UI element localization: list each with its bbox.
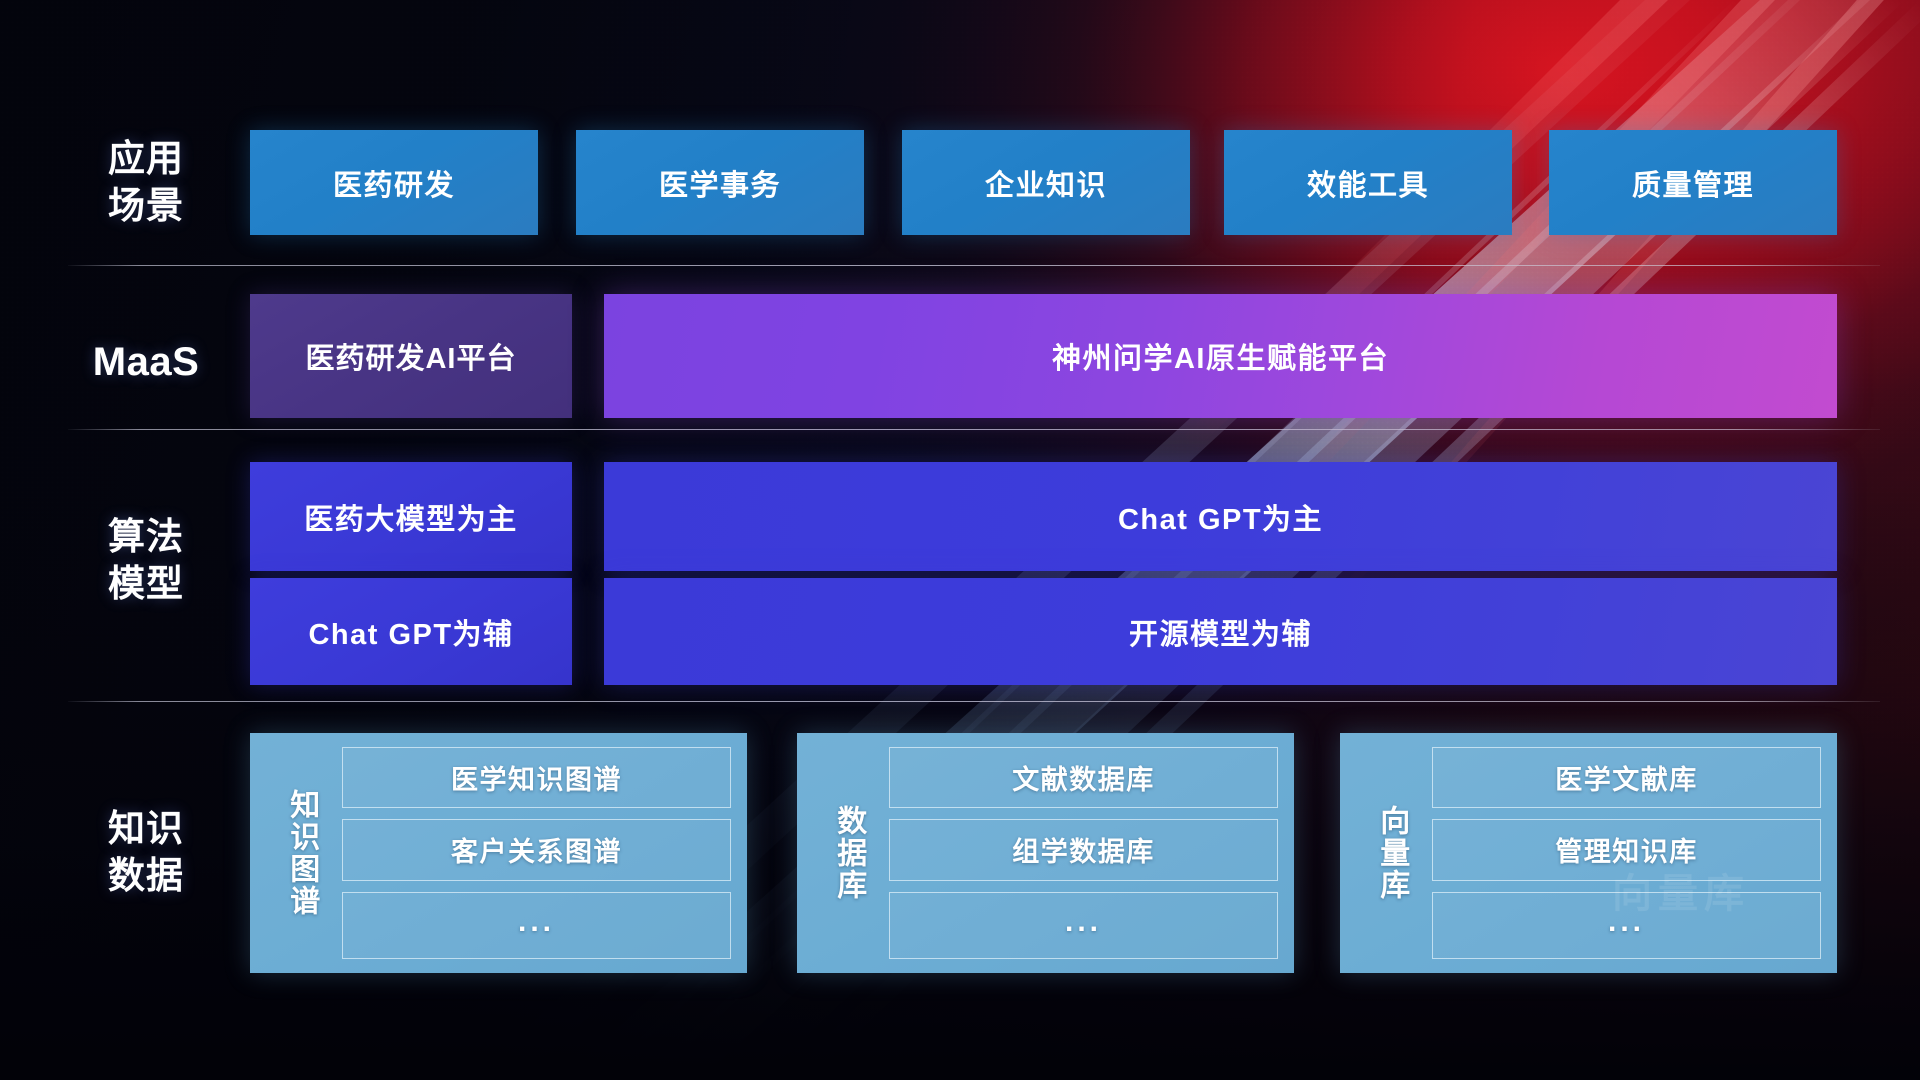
app-tile-efficiency-tools[interactable]: 效能工具 — [1224, 130, 1512, 235]
knowledge-group-knowledge-graph[interactable]: 知识图谱 医学知识图谱 客户关系图谱 ... — [250, 733, 747, 973]
knowledge-item-more[interactable]: ... — [1432, 892, 1821, 959]
row-label-algorithm-models: 算法 模型 — [62, 513, 230, 608]
row-label-line-2: 场景 — [62, 182, 230, 229]
knowledge-item[interactable]: 管理知识库 — [1432, 819, 1821, 880]
app-tile-quality-management[interactable]: 质量管理 — [1549, 130, 1837, 235]
knowledge-group-label: 数据库 — [807, 747, 889, 959]
app-tile-label: 质量管理 — [1632, 162, 1754, 204]
row-label-knowledge-data: 知识 数据 — [62, 805, 230, 900]
maas-tile-shenzhou-wenxue-platform[interactable]: 神州问学AI原生赋能平台 — [604, 294, 1837, 418]
row-label-line-1: 应用 — [62, 135, 230, 182]
knowledge-item[interactable]: 文献数据库 — [889, 747, 1278, 808]
row-label-maas: MaaS — [62, 337, 230, 388]
row-label-line-1: 算法 — [62, 513, 230, 560]
app-tile-medical-affairs[interactable]: 医学事务 — [576, 130, 864, 235]
app-tile-label: 效能工具 — [1307, 162, 1429, 204]
app-tile-label: 企业知识 — [985, 162, 1107, 204]
maas-tile-label: 神州问学AI原生赋能平台 — [1052, 335, 1389, 377]
knowledge-group-label: 向量库 — [1350, 747, 1432, 959]
knowledge-item[interactable]: 客户关系图谱 — [342, 819, 731, 880]
knowledge-group-label: 知识图谱 — [260, 747, 342, 959]
maas-tile-label: 医药研发AI平台 — [305, 335, 516, 377]
row-label-application-scenarios: 应用 场景 — [62, 135, 230, 230]
maas-tile-pharma-ai-platform[interactable]: 医药研发AI平台 — [250, 294, 572, 418]
knowledge-item-more[interactable]: ... — [342, 892, 731, 959]
row-label-line-2: 数据 — [62, 852, 230, 899]
knowledge-group-vector-store[interactable]: 向量库 医学文献库 管理知识库 ... 向量库 — [1340, 733, 1837, 973]
row-label-line-1: 知识 — [62, 805, 230, 852]
algo-tile-label: 开源模型为辅 — [1129, 611, 1312, 653]
knowledge-group-item-list: 医学知识图谱 客户关系图谱 ... — [342, 747, 731, 959]
row-label-line-2: 模型 — [62, 560, 230, 607]
app-tile-pharma-rd[interactable]: 医药研发 — [250, 130, 538, 235]
divider-after-applications — [68, 265, 1880, 266]
knowledge-group-item-list: 医学文献库 管理知识库 ... — [1432, 747, 1821, 959]
divider-after-algorithms — [68, 701, 1880, 702]
knowledge-item[interactable]: 医学文献库 — [1432, 747, 1821, 808]
diagram-canvas: 应用 场景 医药研发 医学事务 企业知识 效能工具 质量管理 MaaS 医药研发… — [0, 0, 1920, 1080]
app-tile-label: 医学事务 — [659, 162, 781, 204]
algo-tile-label: Chat GPT为辅 — [308, 611, 513, 653]
knowledge-group-item-list: 文献数据库 组学数据库 ... — [889, 747, 1278, 959]
algo-tile-pharma-llm-primary[interactable]: 医药大模型为主 — [250, 462, 572, 571]
row-label-text: MaaS — [62, 337, 230, 388]
algo-tile-chatgpt-secondary[interactable]: Chat GPT为辅 — [250, 578, 572, 685]
stack-diagram: 应用 场景 医药研发 医学事务 企业知识 效能工具 质量管理 MaaS 医药研发… — [0, 0, 1920, 1080]
knowledge-group-database[interactable]: 数据库 文献数据库 组学数据库 ... — [797, 733, 1294, 973]
algo-tile-opensource-secondary[interactable]: 开源模型为辅 — [604, 578, 1837, 685]
algo-tile-label: Chat GPT为主 — [1118, 496, 1323, 538]
knowledge-item-more[interactable]: ... — [889, 892, 1278, 959]
algo-tile-chatgpt-primary[interactable]: Chat GPT为主 — [604, 462, 1837, 571]
knowledge-item[interactable]: 组学数据库 — [889, 819, 1278, 880]
divider-after-maas — [68, 429, 1880, 430]
app-tile-enterprise-knowledge[interactable]: 企业知识 — [902, 130, 1190, 235]
algo-tile-label: 医药大模型为主 — [304, 496, 518, 538]
app-tile-label: 医药研发 — [333, 162, 455, 204]
knowledge-item[interactable]: 医学知识图谱 — [342, 747, 731, 808]
